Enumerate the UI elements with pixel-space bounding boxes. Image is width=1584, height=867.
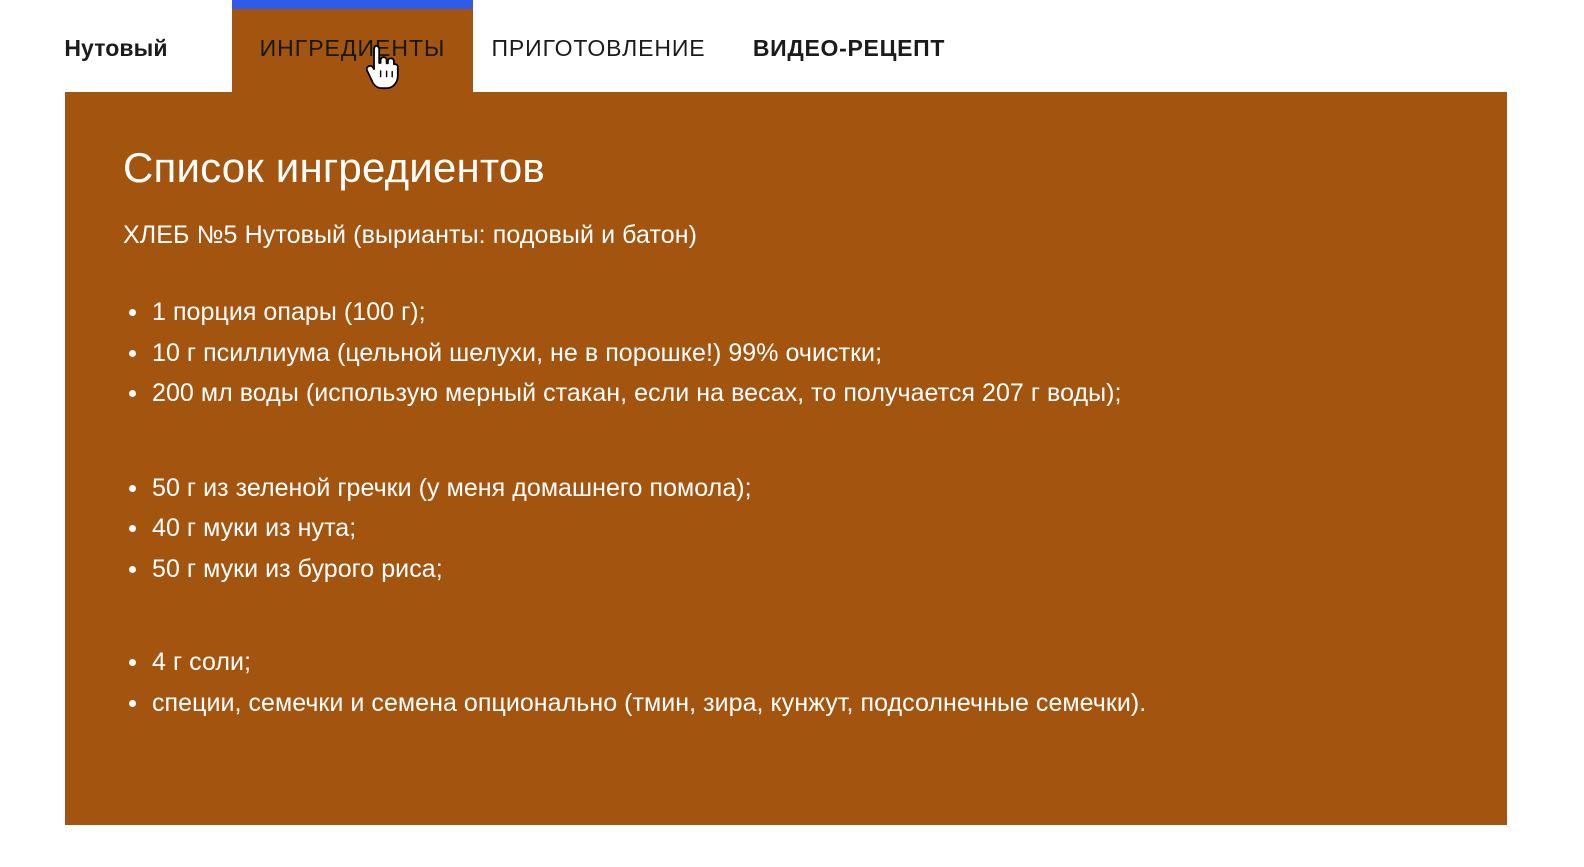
list-item: 50 г муки из бурого риса; [123, 549, 1487, 590]
tab-bar: Нутовый ИНГРЕДИЕНТЫ ПРИГОТОВЛЕНИЕ ВИДЕО-… [0, 0, 1584, 92]
bullet-icon [129, 659, 136, 666]
list-item-text: 50 г из зеленой гречки (у меня домашнего… [152, 474, 752, 502]
recipe-subtitle: ХЛЕБ №5 Нутовый (вырианты: подовый и бат… [123, 220, 1487, 250]
bullet-icon [129, 390, 136, 397]
bullet-icon [129, 309, 136, 316]
list-item: 200 мл воды (использую мерный стакан, ес… [123, 373, 1487, 414]
list-item: 50 г из зеленой гречки (у меня домашнего… [123, 468, 1487, 509]
tab-ingredienty-label: ИНГРЕДИЕНТЫ [260, 33, 446, 60]
list-item: специи, семечки и семена опционально (тм… [123, 683, 1487, 724]
bullet-icon [129, 700, 136, 707]
tab-nutovyy-label: Нутовый [64, 33, 167, 60]
list-item: 10 г псиллиума (цельной шелухи, не в пор… [123, 333, 1487, 374]
tab-nutovyy[interactable]: Нутовый [0, 0, 232, 92]
list-item-text: 10 г псиллиума (цельной шелухи, не в пор… [152, 339, 882, 367]
bullet-icon [129, 525, 136, 532]
bullet-icon [129, 350, 136, 357]
bullet-icon [129, 566, 136, 573]
list-item: 4 г соли; [123, 642, 1487, 683]
tab-prigotovlenie-label: ПРИГОТОВЛЕНИЕ [491, 33, 705, 60]
panel-content: Список ингредиентов ХЛЕБ №5 Нутовый (выр… [123, 144, 1487, 723]
tab-prigotovlenie[interactable]: ПРИГОТОВЛЕНИЕ [473, 0, 724, 92]
list-item-text: 4 г соли; [152, 648, 251, 676]
list-item-text: специи, семечки и семена опционально (тм… [152, 689, 1146, 717]
list-item: 1 порция опары (100 г); [123, 292, 1487, 333]
ingredient-group: 1 порция опары (100 г); 10 г псиллиума (… [123, 292, 1487, 414]
bullet-icon [129, 485, 136, 492]
ingredient-group: 50 г из зеленой гречки (у меня домашнего… [123, 468, 1487, 590]
list-item: 40 г муки из нута; [123, 508, 1487, 549]
list-item-text: 40 г муки из нута; [152, 514, 356, 542]
ingredient-group: 4 г соли; специи, семечки и семена опцио… [123, 642, 1487, 723]
active-tab-indicator [232, 0, 473, 9]
tab-video-recipe-label: ВИДЕО-РЕЦЕПТ [753, 33, 945, 60]
page-title: Список ингредиентов [123, 144, 1487, 191]
ingredients-panel: Список ингредиентов ХЛЕБ №5 Нутовый (выр… [65, 92, 1507, 825]
list-item-text: 1 порция опары (100 г); [152, 298, 426, 326]
tab-video-recipe[interactable]: ВИДЕО-РЕЦЕПТ [724, 0, 974, 92]
list-item-text: 50 г муки из бурого риса; [152, 555, 443, 583]
list-item-text: 200 мл воды (использую мерный стакан, ес… [152, 379, 1122, 407]
tab-ingredienty[interactable]: ИНГРЕДИЕНТЫ [232, 0, 473, 92]
